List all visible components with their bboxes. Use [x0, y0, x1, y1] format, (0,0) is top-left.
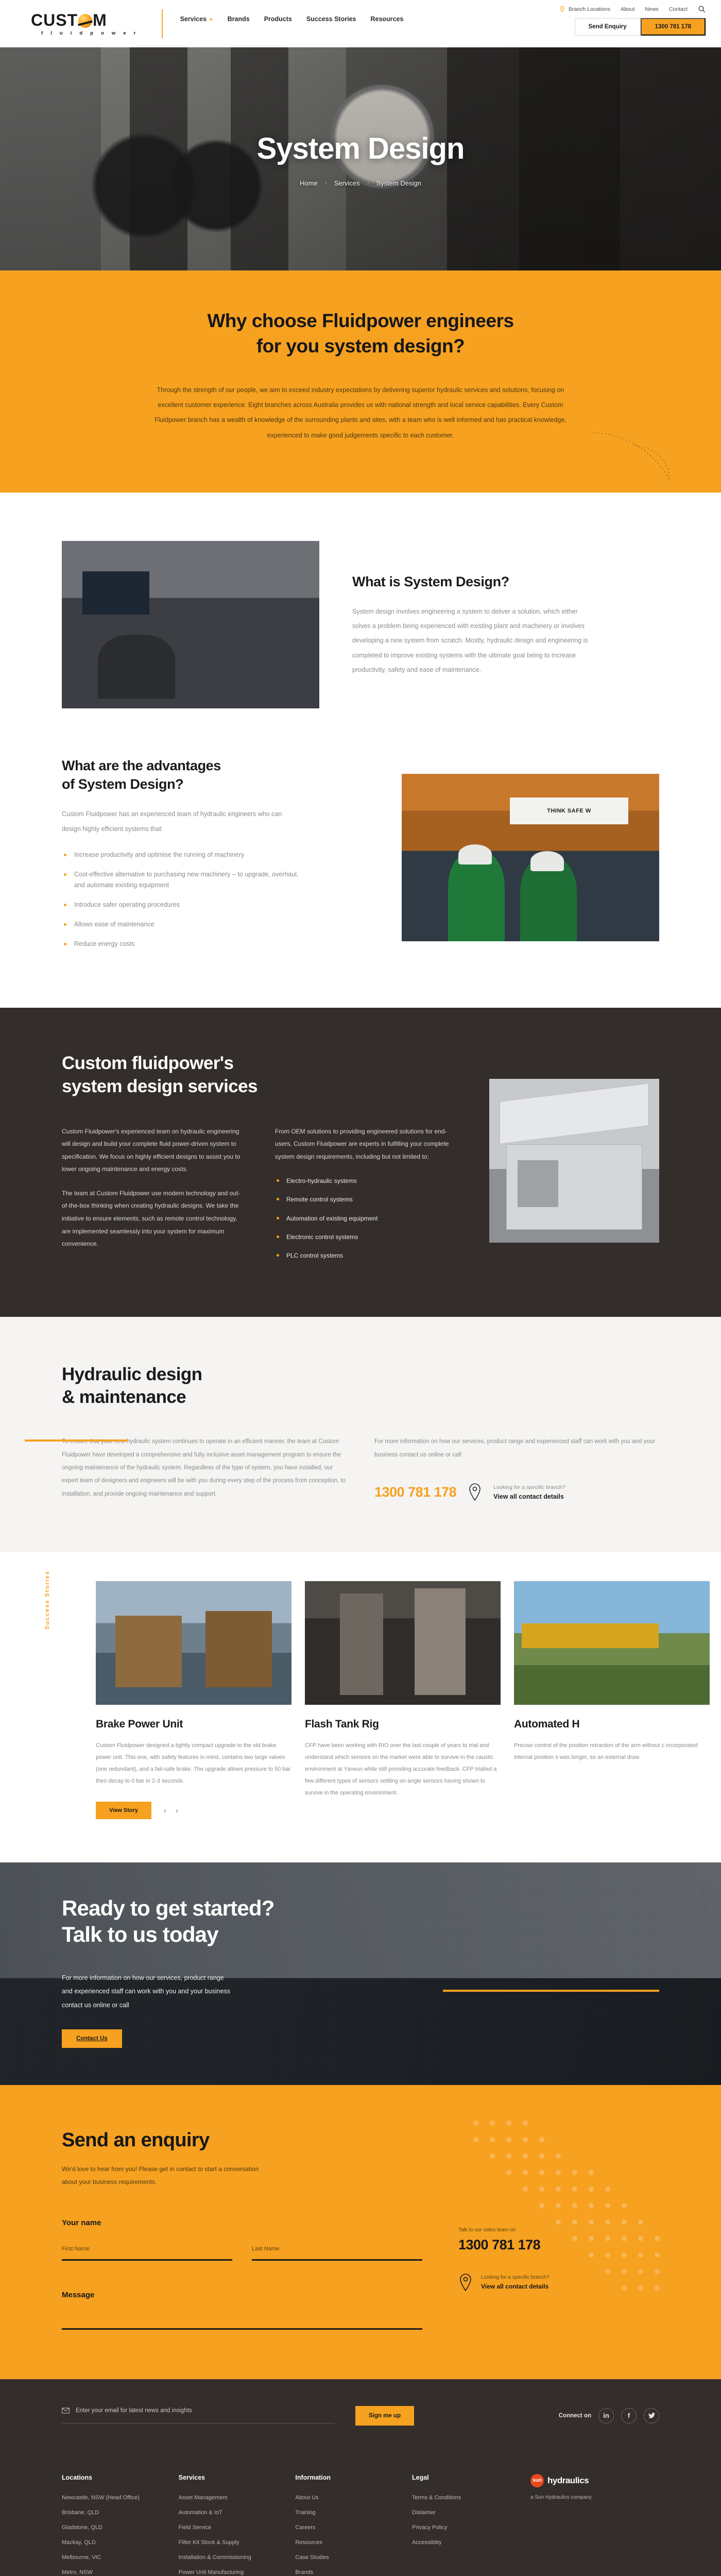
story-image	[96, 1581, 291, 1705]
message-field[interactable]	[62, 2328, 422, 2330]
parent-brand-block: sun hydraulics a Sun Hydraulics company	[530, 2474, 659, 2576]
enquiry-lead: We'd love to hear from you! Please get i…	[62, 2163, 268, 2188]
story-card[interactable]: Automated H Precise control of the posit…	[514, 1581, 710, 1819]
sun-hydraulics-logo: sun hydraulics	[530, 2474, 659, 2487]
footer-link[interactable]: Training	[295, 2510, 412, 2516]
services-dark-title-line1: Custom fluidpower's	[62, 1053, 233, 1073]
footer-column-services: Services Asset Management Automation & I…	[179, 2474, 296, 2576]
cta-section: Ready to get started? Talk to us today F…	[0, 1862, 721, 2085]
mail-icon	[62, 2408, 70, 2414]
footer-link[interactable]: Case Studies	[295, 2554, 412, 2561]
newsletter-input-underline[interactable]	[62, 2423, 335, 2424]
first-name-input-underline[interactable]	[62, 2259, 232, 2261]
footer-link[interactable]: Mackay, QLD	[62, 2539, 179, 2546]
advantages-paragraph: Custom Fluidpower has an experienced tea…	[62, 807, 299, 836]
linkedin-icon[interactable]: in	[598, 2408, 614, 2424]
office-photo	[62, 541, 319, 708]
twitter-bird-icon	[648, 2413, 655, 2418]
view-story-button[interactable]: View Story	[96, 1802, 151, 1819]
story-title: Flash Tank Rig	[305, 1718, 501, 1731]
header-divider	[162, 9, 163, 38]
footer-link[interactable]: Resources	[295, 2539, 412, 2546]
story-image	[514, 1581, 710, 1705]
footer-link[interactable]: Gladstone, QLD	[62, 2524, 179, 2531]
why-heading-line2: for you system design?	[256, 335, 465, 357]
footer-heading: Legal	[412, 2474, 530, 2481]
what-is-paragraph: System design involves engineering a sys…	[352, 604, 589, 677]
location-pin-icon	[559, 6, 565, 12]
search-icon[interactable]	[698, 5, 706, 13]
services-dark-right-col: From OEM solutions to providing engineer…	[275, 1125, 460, 1270]
services-dark-p2: The team at Custom Fluidpower use modern…	[62, 1187, 247, 1250]
logo[interactable]: CUSTM f l u i d p o w e r	[31, 0, 139, 47]
list-item: Reduce energy costs	[62, 939, 299, 950]
last-name-input-underline[interactable]	[252, 2259, 422, 2261]
maintenance-title: Hydraulic design & maintenance	[62, 1363, 659, 1409]
success-stories-section: Success Stories Brake Power Unit Custom …	[0, 1552, 721, 1862]
breadcrumb-home[interactable]: Home	[300, 179, 318, 187]
list-item: Remote control systems	[275, 1195, 460, 1205]
logo-wordmark: CUSTM	[31, 12, 107, 28]
maintenance-title-line2: & maintenance	[62, 1387, 186, 1407]
footer-link[interactable]: Field Service	[179, 2524, 296, 2531]
footer-heading: Services	[179, 2474, 296, 2481]
what-is-title: What is System Design?	[352, 573, 659, 591]
enquiry-phone[interactable]: 1300 781 178	[458, 2237, 659, 2253]
nav-item-resources[interactable]: Resources	[370, 15, 403, 23]
safety-sign: THINK SAFE W	[510, 798, 628, 824]
why-heading: Why choose Fluidpower engineers for you …	[0, 309, 721, 359]
header-cta-row: Send Enquiry 1300 781 178	[575, 18, 706, 36]
nav-item-services[interactable]: Services+	[180, 15, 213, 23]
advantages-section: THINK SAFE W What are the advantages of …	[0, 757, 721, 1008]
story-card[interactable]: Flash Tank Rig CFP have been working wit…	[305, 1581, 501, 1819]
story-image	[305, 1581, 501, 1705]
footer-link[interactable]: Accessiblity	[412, 2539, 530, 2546]
first-name-label: First Name	[62, 2246, 232, 2252]
location-pin-icon	[458, 2274, 473, 2291]
footer-column-legal: Legal Terms & Conditions Dislaimer Priva…	[412, 2474, 530, 2576]
advantages-title: What are the advantages of System Design…	[62, 757, 369, 793]
list-item: Introduce safer operating procedures	[62, 900, 299, 911]
advantages-list: Increase productivity and optimise the r…	[62, 850, 369, 950]
footer-link[interactable]: Privacy Policy	[412, 2524, 530, 2531]
why-choose-section: Why choose Fluidpower engineers for you …	[0, 270, 721, 493]
footer-link[interactable]: Careers	[295, 2524, 412, 2531]
maintenance-right-paragraph: For more information on how our services…	[374, 1435, 659, 1462]
cta-title-line2: Talk to us today	[62, 1922, 218, 1946]
first-name-field[interactable]: First Name	[62, 2246, 232, 2261]
plus-icon: +	[209, 15, 213, 23]
decorative-swoosh-icon	[592, 429, 680, 490]
footer-link[interactable]: Installation & Commissioning	[179, 2554, 296, 2561]
footer-link[interactable]: Dislaimer	[412, 2510, 530, 2516]
power-unit-photo	[489, 1079, 659, 1243]
phone-button[interactable]: 1300 781 178	[641, 18, 706, 36]
sun-logo-icon: sun	[530, 2474, 544, 2487]
list-item: Allows ease of maintenance	[62, 919, 299, 930]
your-name-label: Your name	[62, 2218, 422, 2227]
nav-item-products[interactable]: Products	[264, 15, 292, 23]
footer-link[interactable]: Melbourne, VIC	[62, 2554, 179, 2561]
enquiry-section: Send an enquiry We'd love to hear from y…	[0, 2085, 721, 2379]
services-dark-left-col: Custom Fluidpower's experienced team on …	[62, 1125, 247, 1270]
enquiry-phone-prompt: Talk to our sales team on	[458, 2227, 659, 2233]
header-utility-row: Branch Locations About News Contact	[559, 5, 706, 13]
breadcrumb-separator-icon: ›	[367, 179, 369, 187]
why-heading-line1: Why choose Fluidpower engineers	[207, 310, 513, 331]
footer-link[interactable]: Terms & Conditions	[412, 2495, 530, 2501]
footer-link[interactable]: Automation & IoT	[179, 2510, 296, 2516]
branch-locations-label: Branch Locations	[569, 6, 610, 12]
list-item: Automation of existing equipment	[275, 1214, 460, 1224]
logo-sphere-icon	[78, 14, 92, 28]
story-body: CFP have been working with RIO over the …	[305, 1740, 501, 1799]
hero-banner: System Design Home › Services › System D…	[0, 47, 721, 270]
footer-link[interactable]: Newcastle, NSW (Head Office)	[62, 2495, 179, 2501]
breadcrumb-separator-icon: ›	[325, 179, 327, 187]
services-dark-p3: From OEM solutions to providing engineer…	[275, 1125, 460, 1163]
breadcrumb: Home › Services › System Design	[300, 179, 421, 187]
story-card[interactable]: Brake Power Unit Custom Fluidpower desig…	[96, 1581, 291, 1819]
nav-label: Services	[180, 15, 207, 23]
footer-link[interactable]: Brisbane, QLD	[62, 2510, 179, 2516]
carousel-next-icon[interactable]: ›	[176, 1806, 178, 1815]
what-is-section: What is System Design? System design inv…	[0, 493, 721, 757]
send-enquiry-button[interactable]: Send Enquiry	[575, 18, 641, 36]
contact-us-button[interactable]: Contact Us	[62, 2029, 122, 2048]
facebook-icon[interactable]: f	[621, 2408, 637, 2424]
enquiry-title: Send an enquiry	[62, 2129, 422, 2151]
site-header: CUSTM f l u i d p o w e r Services+ Bran…	[0, 0, 721, 47]
list-item: Electronic control systems	[275, 1232, 460, 1242]
why-paragraph: Through the strength of our people, we a…	[144, 383, 577, 444]
story-title: Automated H	[514, 1718, 710, 1731]
top-link-contact[interactable]: Contact	[669, 6, 688, 12]
cta-title: Ready to get started? Talk to us today	[62, 1895, 350, 1947]
location-pin-icon	[468, 1483, 482, 1501]
story-body: Precise control of the position retracti…	[514, 1740, 710, 1764]
success-stories-tag: Success Stories	[44, 1570, 50, 1630]
top-link-about[interactable]: About	[621, 6, 634, 12]
enquiry-branch-question: Looking for a specific branch?	[481, 2275, 550, 2280]
maintenance-title-line1: Hydraulic design	[62, 1364, 202, 1384]
story-title: Brake Power Unit	[96, 1718, 291, 1731]
last-name-field[interactable]: Last Name	[252, 2246, 422, 2261]
cta-paragraph: For more information on how our services…	[62, 1971, 232, 2012]
stories-carousel[interactable]: Brake Power Unit Custom Fluidpower desig…	[0, 1581, 721, 1819]
branch-question: Looking for a specific branch?	[493, 1484, 565, 1490]
footer-column-locations: Locations Newcastle, NSW (Head Office) B…	[62, 2474, 179, 2576]
accent-rule	[25, 1439, 128, 1442]
cta-title-line1: Ready to get started?	[62, 1896, 274, 1920]
enquiry-contact-link[interactable]: View all contact details	[481, 2283, 550, 2290]
services-dark-title: Custom fluidpower's system design servic…	[62, 1052, 460, 1098]
advantages-title-line1: What are the advantages	[62, 758, 221, 773]
sun-logo-text: hydraulics	[547, 2476, 589, 2486]
footer-heading: Locations	[62, 2474, 179, 2481]
services-dark-p1: Custom Fluidpower's experienced team on …	[62, 1125, 247, 1176]
parent-brand-tagline: a Sun Hydraulics company	[530, 2495, 659, 2500]
newsletter-signup: Enter your email for latest news and ins…	[62, 2406, 659, 2447]
page-root: CUSTM f l u i d p o w e r Services+ Bran…	[0, 0, 721, 2576]
twitter-icon[interactable]	[644, 2408, 659, 2424]
maintenance-left-col: To ensure that your new hydraulic system…	[62, 1435, 347, 1501]
sign-me-up-button[interactable]: Sign me up	[355, 2406, 414, 2426]
advantages-title-line2: of System Design?	[62, 776, 183, 792]
maintenance-section: Hydraulic design & maintenance To ensure…	[0, 1317, 721, 1552]
top-link-news[interactable]: News	[645, 6, 659, 12]
connect-label: Connect on	[559, 2413, 591, 2419]
logo-tagline: f l u i d p o w e r	[41, 30, 139, 36]
footer-link[interactable]: Power Unit Manufacturing	[179, 2569, 296, 2575]
breadcrumb-services[interactable]: Services	[334, 179, 360, 187]
view-contact-details-link[interactable]: View all contact details	[493, 1493, 565, 1500]
maintenance-phone[interactable]: 1300 781 178	[374, 1484, 456, 1500]
footer-heading: Information	[295, 2474, 412, 2481]
footer-link[interactable]: Asset Management	[179, 2495, 296, 2501]
branch-locations-link[interactable]: Branch Locations	[559, 6, 610, 12]
footer-link[interactable]: Metro, NSW	[62, 2569, 179, 2575]
newsletter-placeholder[interactable]: Enter your email for latest news and ins…	[76, 2408, 192, 2414]
list-item: PLC control systems	[275, 1251, 460, 1261]
footer-link[interactable]: About Us	[295, 2495, 412, 2501]
workshop-photo: THINK SAFE W	[402, 774, 659, 941]
services-dark-list: Electro-hydraulic systems Remote control…	[275, 1176, 460, 1261]
carousel-prev-icon[interactable]: ‹	[164, 1806, 166, 1815]
list-item: Increase productivity and optimise the r…	[62, 850, 299, 861]
header-right: Branch Locations About News Contact Send…	[559, 0, 706, 36]
maintenance-left-paragraph: To ensure that your new hydraulic system…	[62, 1435, 347, 1500]
nav-item-success-stories[interactable]: Success Stories	[306, 15, 356, 23]
accent-rule	[443, 1990, 659, 1992]
footer-link[interactable]: Filter Kit Stock & Supply	[179, 2539, 296, 2546]
story-body: Custom Fluidpower designed a tightly com…	[96, 1740, 291, 1787]
footer-link[interactable]: Brands	[295, 2569, 412, 2575]
main-nav: Services+ Brands Products Success Storie…	[180, 4, 404, 34]
message-input-underline[interactable]	[62, 2328, 422, 2330]
nav-item-brands[interactable]: Brands	[228, 15, 250, 23]
services-dark-title-line2: system design services	[62, 1076, 257, 1096]
breadcrumb-current: System Design	[376, 179, 421, 187]
maintenance-right-col: For more information on how our services…	[374, 1435, 659, 1501]
list-item: Electro-hydraulic systems	[275, 1176, 460, 1186]
message-label: Message	[62, 2291, 422, 2299]
last-name-label: Last Name	[252, 2246, 422, 2252]
services-dark-section: Custom fluidpower's system design servic…	[0, 1008, 721, 1317]
list-item: Cost-effective alternative to purchasing…	[62, 869, 299, 892]
footer-column-information: Information About Us Training Careers Re…	[295, 2474, 412, 2576]
site-footer: Enter your email for latest news and ins…	[0, 2379, 721, 2576]
page-title: System Design	[257, 131, 465, 166]
footer-link-columns: Locations Newcastle, NSW (Head Office) B…	[62, 2474, 659, 2576]
